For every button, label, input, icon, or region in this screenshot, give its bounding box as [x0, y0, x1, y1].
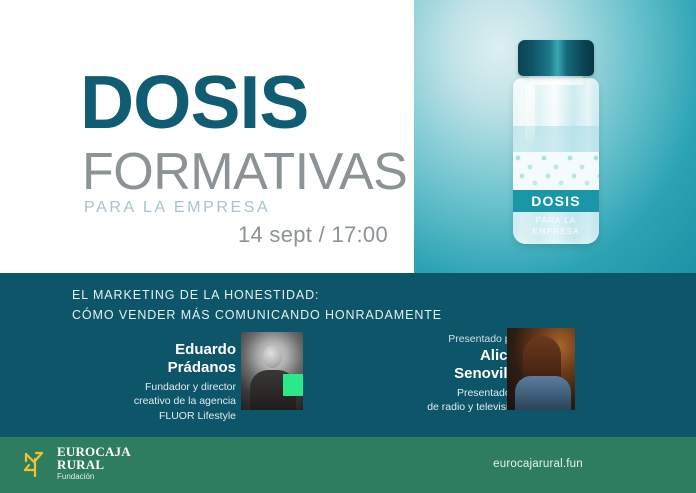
- vial-label-band: DOSIS: [513, 190, 599, 212]
- vial-cap-icon: [518, 40, 594, 76]
- footer-bar: EUROCAJA RURAL Fundación eurocajarural.f…: [0, 437, 696, 493]
- speaker-alicia-photo-face: [533, 346, 554, 372]
- website-url[interactable]: eurocajarural.fun: [0, 458, 696, 470]
- vial-label-text: DOSIS: [531, 193, 581, 209]
- speaker-eduardo-firstname: Eduardo: [96, 341, 236, 359]
- vial-sublabel: PARA LA EMPRESA: [513, 216, 599, 238]
- speaker-eduardo-photo-head: [263, 345, 282, 368]
- session-band: EL MARKETING DE LA HONESTIDAD: CÓMO VEND…: [0, 273, 696, 437]
- speaker-alicia-name: Alicia Senovilla: [398, 347, 520, 383]
- presented-by-label: Presentado por: [398, 333, 520, 345]
- top-section: DOSIS FORMATIVAS PARA LA EMPRESA 14 sept…: [0, 0, 696, 273]
- speaker-eduardo-name: Eduardo Prádanos: [96, 341, 236, 377]
- speaker-eduardo-role-line2: creativo de la agencia: [96, 394, 236, 408]
- promotional-poster: DOSIS FORMATIVAS PARA LA EMPRESA 14 sept…: [0, 0, 696, 493]
- speaker-eduardo-role-line3: FLUOR Lifestyle: [96, 409, 236, 423]
- speaker-eduardo-role-line1: Fundador y director: [96, 380, 236, 394]
- speaker-eduardo-role: Fundador y director creativo de la agenc…: [96, 380, 236, 423]
- speaker-alicia-firstname: Alicia: [398, 347, 520, 365]
- speaker-eduardo-lastname: Prádanos: [96, 359, 236, 377]
- title-block: DOSIS FORMATIVAS PARA LA EMPRESA 14 sept…: [0, 0, 414, 273]
- vial-patterned-label: [513, 152, 599, 190]
- speaker-alicia-photo-jacket: [515, 376, 571, 410]
- speaker-alicia-role-line2: de radio y televisión: [398, 400, 520, 414]
- title-sub: FORMATIVAS: [82, 148, 407, 197]
- speaker-alicia-info: Presentado por Alicia Senovilla Presenta…: [398, 333, 520, 415]
- speaker-alicia-role: Presentadora de radio y televisión: [398, 386, 520, 415]
- vial-sublabel-line2: EMPRESA: [513, 227, 599, 238]
- title-tagline: PARA LA EMPRESA: [84, 199, 270, 217]
- title-main: DOSIS: [80, 68, 308, 137]
- event-date-time: 14 sept / 17:00: [0, 222, 388, 248]
- speaker-alicia-lastname: Senovilla: [398, 365, 520, 383]
- session-headline-line2: CÓMO VENDER MÁS COMUNICANDO HONRADAMENTE: [72, 305, 442, 325]
- logo-line-3: Fundación: [57, 473, 131, 481]
- speaker-eduardo-info: Eduardo Prádanos Fundador y director cre…: [96, 341, 236, 423]
- green-accent-shape: [283, 374, 303, 396]
- session-headline-line1: EL MARKETING DE LA HONESTIDAD:: [72, 285, 442, 305]
- session-headline: EL MARKETING DE LA HONESTIDAD: CÓMO VEND…: [72, 285, 442, 326]
- speaker-eduardo-photo: [241, 332, 303, 410]
- vial-glass-highlight: [525, 84, 535, 144]
- vial-sublabel-line1: PARA LA: [513, 216, 599, 227]
- vial-illustration: DOSIS PARA LA EMPRESA: [508, 40, 604, 245]
- speaker-alicia-role-line1: Presentadora: [398, 386, 520, 400]
- speaker-alicia-photo: [507, 328, 575, 410]
